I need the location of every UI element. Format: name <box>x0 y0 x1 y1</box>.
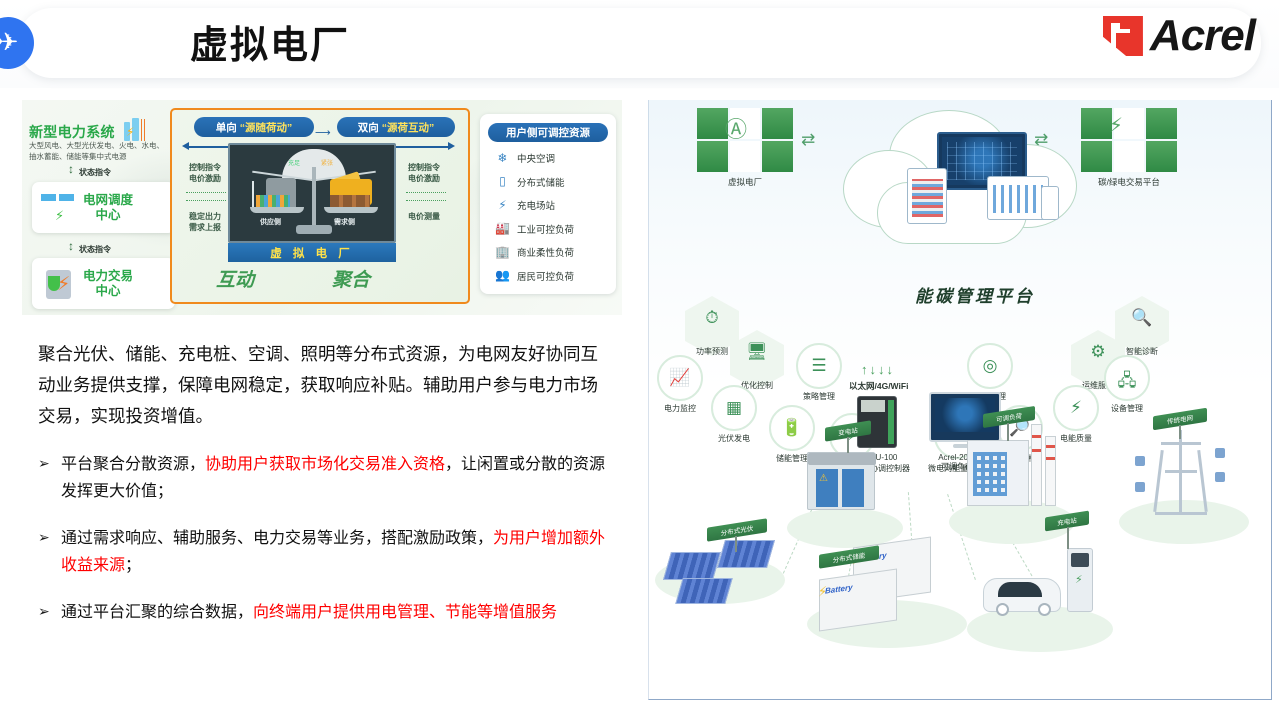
energy-carbon-platform-diagram: Ⓐ 虚拟电厂 ⚡ 碳/绿电交易平台 ⇄ ⇄ 能碳管理平台 ⏱ 功率预测 🖥 优化… <box>648 100 1272 700</box>
page-title: 虚拟电厂 <box>190 14 350 69</box>
list-item: ➢ 通过平台汇聚的综合数据，向终端用户提供用电管理、节能等增值服务 <box>38 598 613 625</box>
bullet-marker: ➢ <box>38 598 52 625</box>
supply-side-label: 供应侧 <box>260 217 281 227</box>
list-item: ➢ 通过需求响应、辅助服务、电力交易等业务，搭配激励政策，为用户增加额外收益来源… <box>38 524 613 578</box>
bullet-marker: ➢ <box>38 524 52 578</box>
resource-item-commercial-load: 🏢 商业柔性负荷 <box>488 245 608 260</box>
slide-page: ✈ 虚拟电厂 Acrel 新型电力系统 ⚡ 大型风电、大型光伏发电、火电、水电、… <box>0 0 1279 716</box>
charging-pile-icon: ⚡ <box>1067 548 1093 612</box>
new-power-system-subtitle: 大型风电、大型光伏发电、火电、水电、抽水蓄能、储能等集中式电源 <box>29 140 169 162</box>
updown-arrow-icon-1: ↕ <box>68 162 74 176</box>
node-strategy-management: ☰ <box>796 343 842 389</box>
right-note-1: 控制指令 <box>408 162 440 173</box>
arc-left-text: 充足 <box>288 158 300 167</box>
ev-charging-icon <box>983 578 1061 612</box>
leaf-bolt-icon: ⚡ <box>1109 113 1123 138</box>
two-way-pill: 双向 “源荷互动” <box>337 117 455 137</box>
factory-icon: 🏭 <box>495 221 510 236</box>
list-item: ➢ 平台聚合分散资源，协助用户获取市场化交易准入资格，让闲置或分散的资源发挥更大… <box>38 450 613 504</box>
snowflake-icon: ❄ <box>495 151 510 166</box>
user-side-resource-card: 用户侧可调控资源 ❄ 中央空调 ▯ 分布式储能 ⚡ 充电场站 🏭 工业可控负荷 … <box>480 114 616 294</box>
node-power-monitor: 📈 <box>657 355 703 401</box>
vpp-tile-label: 虚拟电厂 <box>690 176 800 188</box>
uplink-arrows-icon: ↑↓↓↓ <box>861 362 895 377</box>
vpp-interaction-panel: 单向 “源随荷动” ⟶ 双向 “源荷互动” 控制指令 电价激励 稳定出力 需求上… <box>170 108 470 304</box>
residents-icon: 👥 <box>495 268 510 283</box>
battery-brand-text-2: Battery <box>825 583 853 596</box>
one-way-pill: 单向 “源随荷动” <box>194 117 314 137</box>
node-label: 设备管理 <box>1087 403 1167 414</box>
power-trading-icon: ⚡ <box>41 268 77 300</box>
resource-card-title: 用户侧可调控资源 <box>488 123 608 142</box>
nav-arrow-glyph: ✈ <box>0 31 18 56</box>
left-note-3: 稳定出力 <box>189 211 221 222</box>
node-label: 电力监控 <box>648 403 720 414</box>
phone-icon <box>1041 186 1059 220</box>
intro-paragraph: 聚合光伏、储能、充电桩、空调、照明等分布式资源，为电网友好协同互动业务提供支撑，… <box>38 340 598 433</box>
transmission-tower-icon: Ⓐ <box>725 112 747 144</box>
bullet-text: 通过平台汇聚的综合数据，向终端用户提供用电管理、节能等增值服务 <box>61 598 557 625</box>
grid-dispatch-center-box: ⚡ 电网调度 中心 <box>32 182 175 233</box>
commercial-building-icon: 🏢 <box>495 245 510 260</box>
page-header: ✈ 虚拟电厂 Acrel <box>0 0 1279 88</box>
right-note-3: 电价测量 <box>408 211 440 222</box>
right-note-2: 电价激励 <box>408 173 440 184</box>
node-carbon-emission: ◎ <box>967 343 1013 389</box>
node-storage-management: 🔋 <box>769 405 815 451</box>
arc-right-text: 紧张 <box>321 158 333 167</box>
bullet-list: ➢ 平台聚合分散资源，协助用户获取市场化交易准入资格，让闲置或分散的资源发挥更大… <box>38 450 613 645</box>
grid-dispatch-label: 电网调度 中心 <box>83 193 133 223</box>
power-monitor-icon: 📈 <box>659 368 701 388</box>
node-label: 智能诊断 <box>1102 346 1182 357</box>
node-label: 光伏发电 <box>694 433 774 444</box>
power-forecast-icon: ⏱ <box>685 308 739 328</box>
demand-side-label: 需求侧 <box>334 217 355 227</box>
resource-item-industrial-load: 🏭 工业可控负荷 <box>488 221 608 236</box>
resource-item-central-ac: ❄ 中央空调 <box>488 151 608 166</box>
bullet-marker: ➢ <box>38 450 52 504</box>
power-trading-center-box: ⚡ 电力交易 中心 <box>32 258 175 309</box>
bullet-text: 平台聚合分散资源，协助用户获取市场化交易准入资格，让闲置或分散的资源发挥更大价值… <box>61 450 613 504</box>
storage-management-icon: 🔋 <box>771 418 813 438</box>
updown-arrow-icon-2: ↕ <box>68 239 74 253</box>
charging-station-icon: ⚡ <box>495 198 510 213</box>
resource-item-residential-load: 👥 居民可控负荷 <box>488 268 608 283</box>
power-trading-label: 电力交易 中心 <box>83 269 133 299</box>
left-arrow-head <box>182 142 189 150</box>
calligraphy-aggregation: 聚合 <box>332 265 370 292</box>
pv-generation-icon: ▦ <box>713 398 755 418</box>
right-arrow-icon-1: ⟶ <box>315 126 331 139</box>
resource-item-charging-station: ⚡ 充电场站 <box>488 198 608 213</box>
node-device-management: 🖧 <box>1104 355 1150 401</box>
new-power-system-title: 新型电力系统 <box>29 122 115 142</box>
battery-storage-icon: ▯ <box>495 174 510 189</box>
bullet-text: 通过需求响应、辅助服务、电力交易等业务，搭配激励政策，为用户增加额外收益来源； <box>61 524 613 578</box>
logo-text: Acrel <box>1150 14 1255 58</box>
optimize-control-icon: 🖥 <box>730 342 784 362</box>
substation-icon: ⚠ <box>807 452 875 510</box>
supply-demand-balance-image: 充足 紧张 供应侧 需求侧 <box>228 143 396 243</box>
platform-title: 能碳管理平台 <box>885 282 1065 307</box>
carbon-emission-icon: ◎ <box>969 356 1011 376</box>
laptop-icon <box>987 176 1049 220</box>
resource-item-distributed-storage: ▯ 分布式储能 <box>488 174 608 189</box>
left-note-1: 控制指令 <box>189 162 221 173</box>
right-arrow-head <box>448 142 455 150</box>
device-management-icon: 🖧 <box>1106 368 1148 397</box>
calligraphy-interaction: 互动 <box>216 265 254 292</box>
vpp-banner: 虚 拟 电 厂 <box>228 243 396 262</box>
acrel-logo-mark <box>1103 16 1143 56</box>
arrow-left-pair-icon: ⇄ <box>801 130 815 150</box>
sign-distributed-pv: 分布式光伏 <box>707 518 767 542</box>
network-label: 以太网/4G/WiFi <box>849 380 908 392</box>
left-note-4: 需求上报 <box>189 222 221 233</box>
brand-logo: Acrel <box>1103 14 1255 58</box>
cloud-platform-illustration <box>837 108 1097 268</box>
strategy-management-icon: ☰ <box>798 356 840 376</box>
grid-dispatch-icon: ⚡ <box>41 192 77 224</box>
node-pv-generation: ▦ <box>711 385 757 431</box>
left-note-2: 电价激励 <box>189 173 221 184</box>
tablet-icon <box>907 168 947 224</box>
node-label: 策略管理 <box>779 391 859 402</box>
vpp-architecture-diagram: 新型电力系统 ⚡ 大型风电、大型光伏发电、火电、水电、抽水蓄能、储能等集中式电源… <box>22 100 622 315</box>
power-plant-icon: ⚡ <box>122 117 148 141</box>
smart-diagnosis-icon: 🔍 <box>1115 308 1169 328</box>
status-command-label-2: 状态指令 <box>79 244 111 255</box>
status-command-label-1: 状态指令 <box>79 167 111 178</box>
